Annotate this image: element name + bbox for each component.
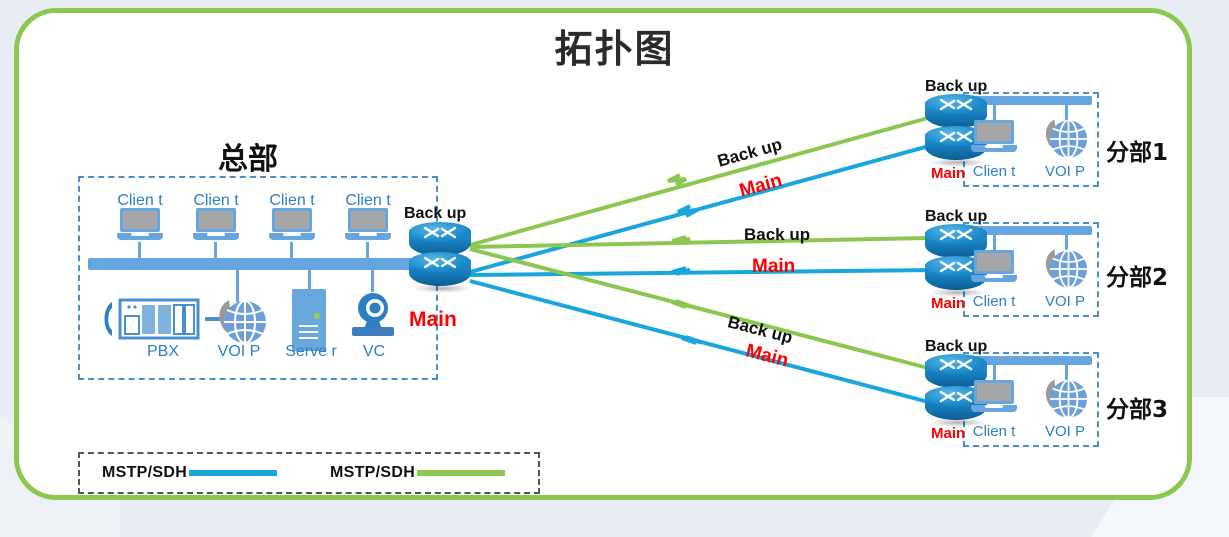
branch-1-voip-icon [1042, 116, 1088, 162]
laptop-screen-icon [974, 250, 1014, 274]
hq-server-drop-line [308, 270, 311, 290]
branch-1-title: 分部1 [1106, 133, 1168, 167]
laptop-base-notch [359, 233, 377, 236]
router-arrows-icon [938, 259, 974, 274]
hq-client-4-label: Clien t [333, 192, 403, 210]
hq-drop-line [366, 242, 369, 260]
legend: MSTP/SDH MSTP/SDH [78, 452, 540, 494]
hq-vc-drop-line [371, 270, 374, 292]
vc-label: VC [352, 343, 396, 361]
server-icon [292, 289, 326, 351]
laptop-screen-icon [120, 208, 160, 232]
pbx-icon [100, 296, 206, 342]
branch-2-link-main-label: Main [752, 256, 795, 278]
laptop-screen-icon [272, 208, 312, 232]
router-arrows-icon [938, 389, 974, 404]
vc-camera-icon [348, 291, 398, 343]
router-shadow [413, 284, 471, 293]
branch-2-title: 分部2 [1106, 258, 1168, 292]
legend-item-2-swatch [417, 470, 505, 476]
branch-1-voip-label: VOI P [1036, 163, 1094, 181]
branch-2-voip-label: VOI P [1036, 293, 1094, 311]
branch-2-voip-icon [1042, 246, 1088, 292]
branch-3-client-label: Clien t [963, 423, 1025, 441]
branch-3-voip-icon [1042, 376, 1088, 422]
branch-3-client-icon [971, 380, 1017, 414]
branch-3-voip-label: VOI P [1036, 423, 1094, 441]
laptop-screen-icon [348, 208, 388, 232]
laptop-base-notch [131, 233, 149, 236]
hq-client-3-label: Clien t [257, 192, 327, 210]
branch-1-main-label: Main [931, 165, 965, 182]
router-arrows-icon [938, 129, 974, 144]
hq-drop-line [138, 242, 141, 260]
branch-2-link-backup-label: Back up [744, 225, 810, 245]
hq-client-1-label: Clien t [105, 192, 175, 210]
laptop-base-notch [985, 145, 1003, 148]
server-label: Serve r [281, 343, 341, 361]
legend-item-1-swatch [189, 470, 277, 476]
hq-drop-line [214, 242, 217, 260]
router-arrows-icon [938, 97, 974, 112]
branch-2-main-label: Main [931, 295, 965, 312]
branch-1-client-icon [971, 120, 1017, 154]
router-arrows-icon [938, 357, 974, 372]
branch-2-client-icon [971, 250, 1017, 284]
laptop-screen-icon [196, 208, 236, 232]
branch-3-main-label: Main [931, 425, 965, 442]
topology-diagram: 拓扑图 总部 Clien t [0, 0, 1229, 537]
voip-label: VOI P [206, 343, 272, 361]
legend-item-2-label: MSTP/SDH [330, 464, 415, 482]
laptop-screen-icon [974, 120, 1014, 144]
voip-globe-icon [215, 296, 267, 348]
server-led-icon [314, 313, 320, 319]
hq-router-main-label: Main [409, 308, 457, 332]
legend-item-1: MSTP/SDH [102, 464, 277, 482]
router-arrows-icon [938, 227, 974, 242]
branch-2-client-label: Clien t [963, 293, 1025, 311]
laptop-base-notch [985, 405, 1003, 408]
hq-client-2-label: Clien t [181, 192, 251, 210]
hq-router-backup-label: Back up [404, 205, 466, 223]
page-title: 拓扑图 [0, 18, 1229, 73]
legend-item-2: MSTP/SDH [330, 464, 505, 482]
router-arrows-icon [422, 255, 458, 270]
laptop-base-notch [985, 275, 1003, 278]
headquarters-title: 总部 [218, 134, 278, 178]
pbx-label: PBX [133, 343, 193, 361]
router-arrows-icon [422, 225, 458, 240]
laptop-screen-icon [974, 380, 1014, 404]
branch-3-title: 分部3 [1106, 390, 1168, 424]
hq-router-main[interactable] [409, 252, 471, 292]
laptop-base-notch [283, 233, 301, 236]
branch-1-client-label: Clien t [963, 163, 1025, 181]
laptop-base-notch [207, 233, 225, 236]
legend-item-1-label: MSTP/SDH [102, 464, 187, 482]
hq-drop-line [290, 242, 293, 260]
